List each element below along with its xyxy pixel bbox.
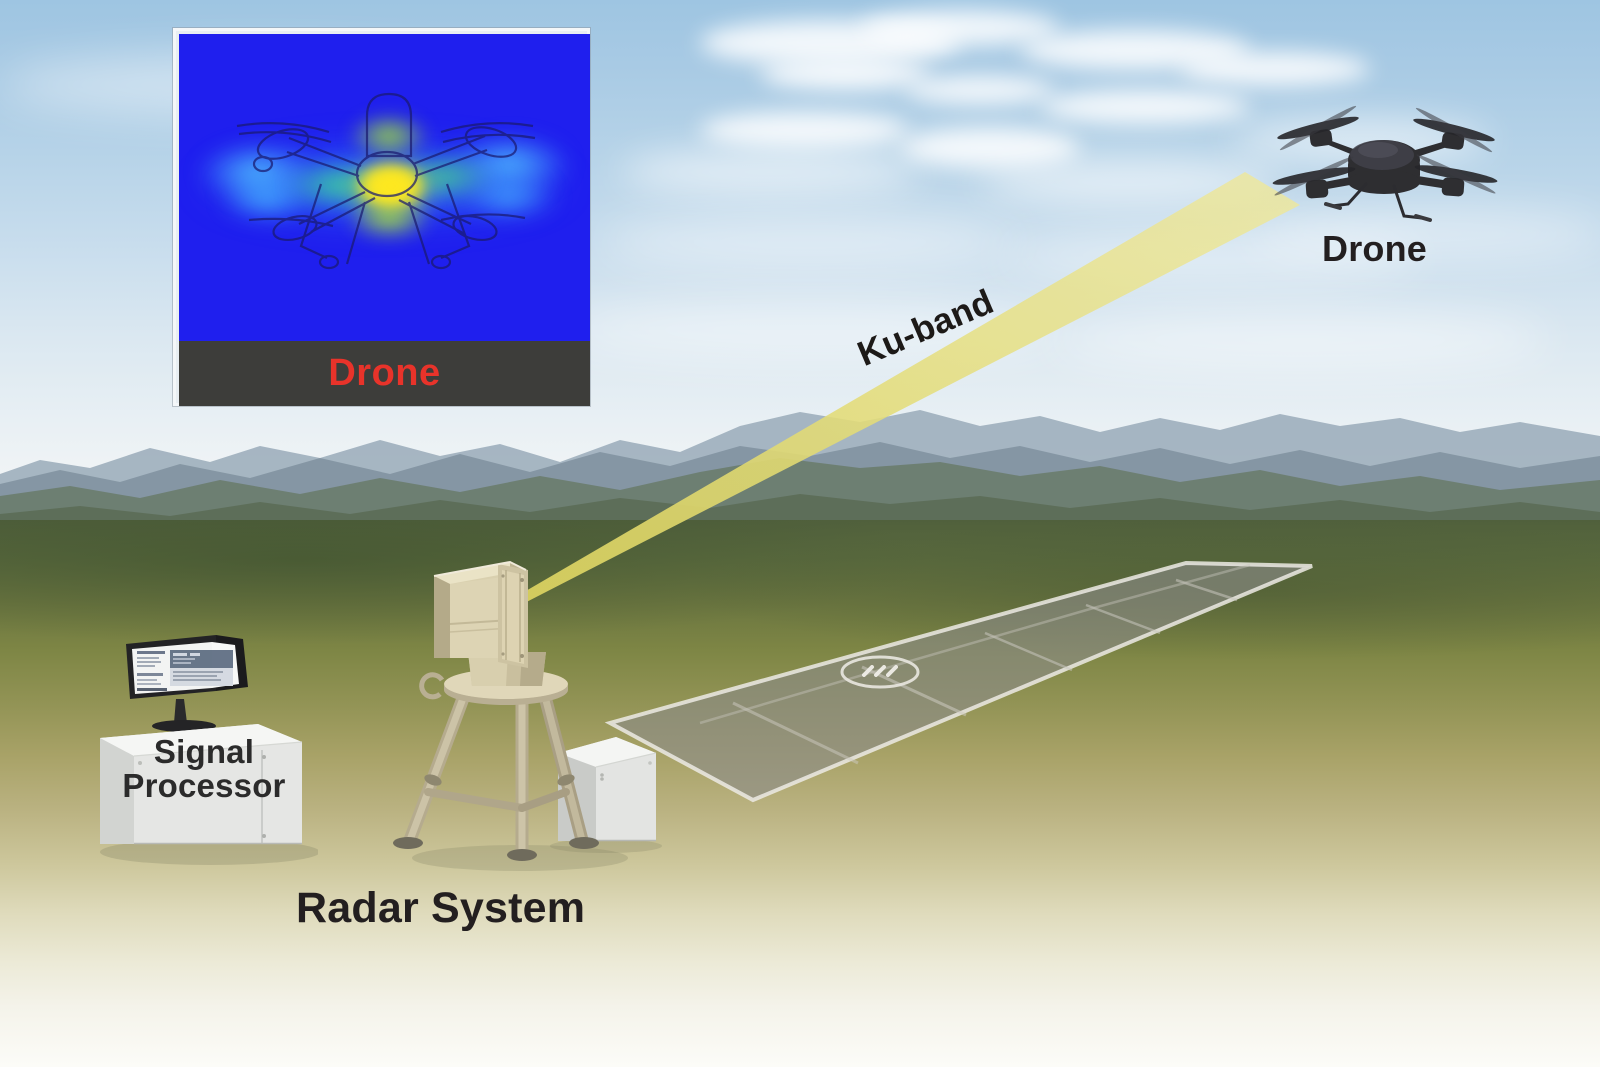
radar-system-label: Radar System — [296, 884, 585, 933]
radar-signature-inset: Drone — [173, 28, 590, 406]
signal-processor-label: Signal Processor — [104, 735, 304, 802]
radar-drone-illustration: Signal Processor — [0, 0, 1600, 1067]
radar-system — [370, 540, 670, 880]
inset-caption-bar: Drone — [179, 341, 590, 406]
radar-antenna-housing — [434, 562, 528, 668]
monitor — [126, 635, 248, 732]
drone-outline-overlay — [179, 34, 590, 341]
tripod — [393, 685, 599, 861]
drone-label: Drone — [1322, 228, 1427, 270]
heatmap-image — [179, 34, 590, 341]
drone-quadcopter — [1270, 100, 1500, 240]
inset-caption: Drone — [328, 352, 440, 395]
